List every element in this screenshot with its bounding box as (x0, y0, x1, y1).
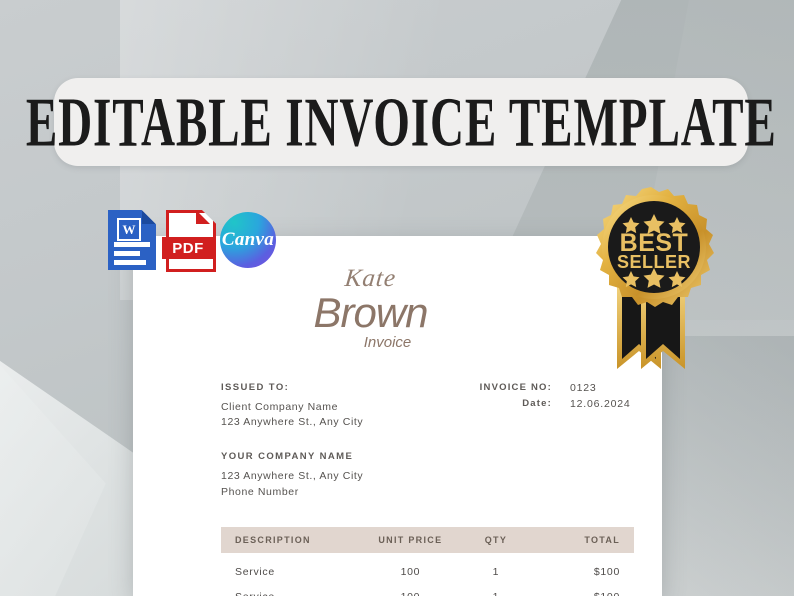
company-address: 123 Anywhere St., Any City (221, 469, 634, 485)
client-address: 123 Anywhere St., Any City (221, 415, 363, 431)
canva-icon: Canva (220, 212, 276, 268)
word-icon-letter: W (117, 218, 141, 241)
cell-qty: 1 (457, 566, 534, 578)
format-icon-group: W PDF Canva (108, 210, 276, 270)
invoice-date-value: 12.06.2024 (570, 398, 634, 410)
table-header-qty: QTY (457, 535, 534, 545)
word-icon: W (108, 210, 156, 270)
company-phone: Phone Number (221, 485, 634, 501)
title-banner: EDITABLE INVOICE TEMPLATE (54, 78, 748, 166)
cell-unit-price: 100 (363, 591, 457, 596)
issued-to-label: ISSUED TO: (221, 382, 363, 393)
invoice-last-name: Brown (133, 291, 608, 335)
invoice-number-block: INVOICE NO: 0123 Date: 12.06.2024 (464, 382, 634, 414)
best-seller-badge: BEST SELLER (577, 183, 725, 371)
invoice-date-label: Date: (522, 398, 552, 410)
company-block: YOUR COMPANY NAME 123 Anywhere St., Any … (221, 451, 634, 501)
word-icon-fold (142, 210, 156, 224)
word-icon-line (114, 251, 140, 256)
pdf-icon: PDF (162, 210, 214, 270)
canva-icon-label: Canva (222, 229, 274, 251)
cell-description: Service (235, 566, 363, 578)
invoice-subtitle: Invoice (167, 335, 608, 352)
table-row: Service 100 1 $100 (221, 578, 634, 596)
invoice-no-label: INVOICE NO: (480, 382, 552, 394)
invoice-no-value: 0123 (570, 382, 634, 394)
cell-unit-price: 100 (363, 566, 457, 578)
listing-image: EDITABLE INVOICE TEMPLATE W PDF Canva Ka… (0, 0, 794, 596)
client-name: Client Company Name (221, 400, 363, 416)
invoice-table: DESCRIPTION UNIT PRICE QTY TOTAL Service… (133, 527, 662, 596)
cell-description: Service (235, 591, 363, 596)
cell-total: $100 (534, 566, 620, 578)
table-header-unit-price: UNIT PRICE (363, 535, 457, 545)
issued-to-block: ISSUED TO: Client Company Name 123 Anywh… (221, 382, 363, 432)
table-row: Service 100 1 $100 (221, 553, 634, 578)
company-name-label: YOUR COMPANY NAME (221, 451, 634, 462)
pdf-icon-label: PDF (162, 237, 214, 259)
table-header-total: TOTAL (534, 535, 620, 545)
page-title: EDITABLE INVOICE TEMPLATE (26, 87, 777, 157)
table-header-row: DESCRIPTION UNIT PRICE QTY TOTAL (221, 527, 634, 553)
word-icon-line (114, 242, 150, 247)
cell-total: $100 (534, 591, 620, 596)
invoice-meta: ISSUED TO: Client Company Name 123 Anywh… (133, 382, 662, 501)
badge-line-2: SELLER (617, 252, 691, 272)
word-icon-line (114, 260, 146, 265)
cell-qty: 1 (457, 591, 534, 596)
table-header-description: DESCRIPTION (235, 535, 363, 545)
